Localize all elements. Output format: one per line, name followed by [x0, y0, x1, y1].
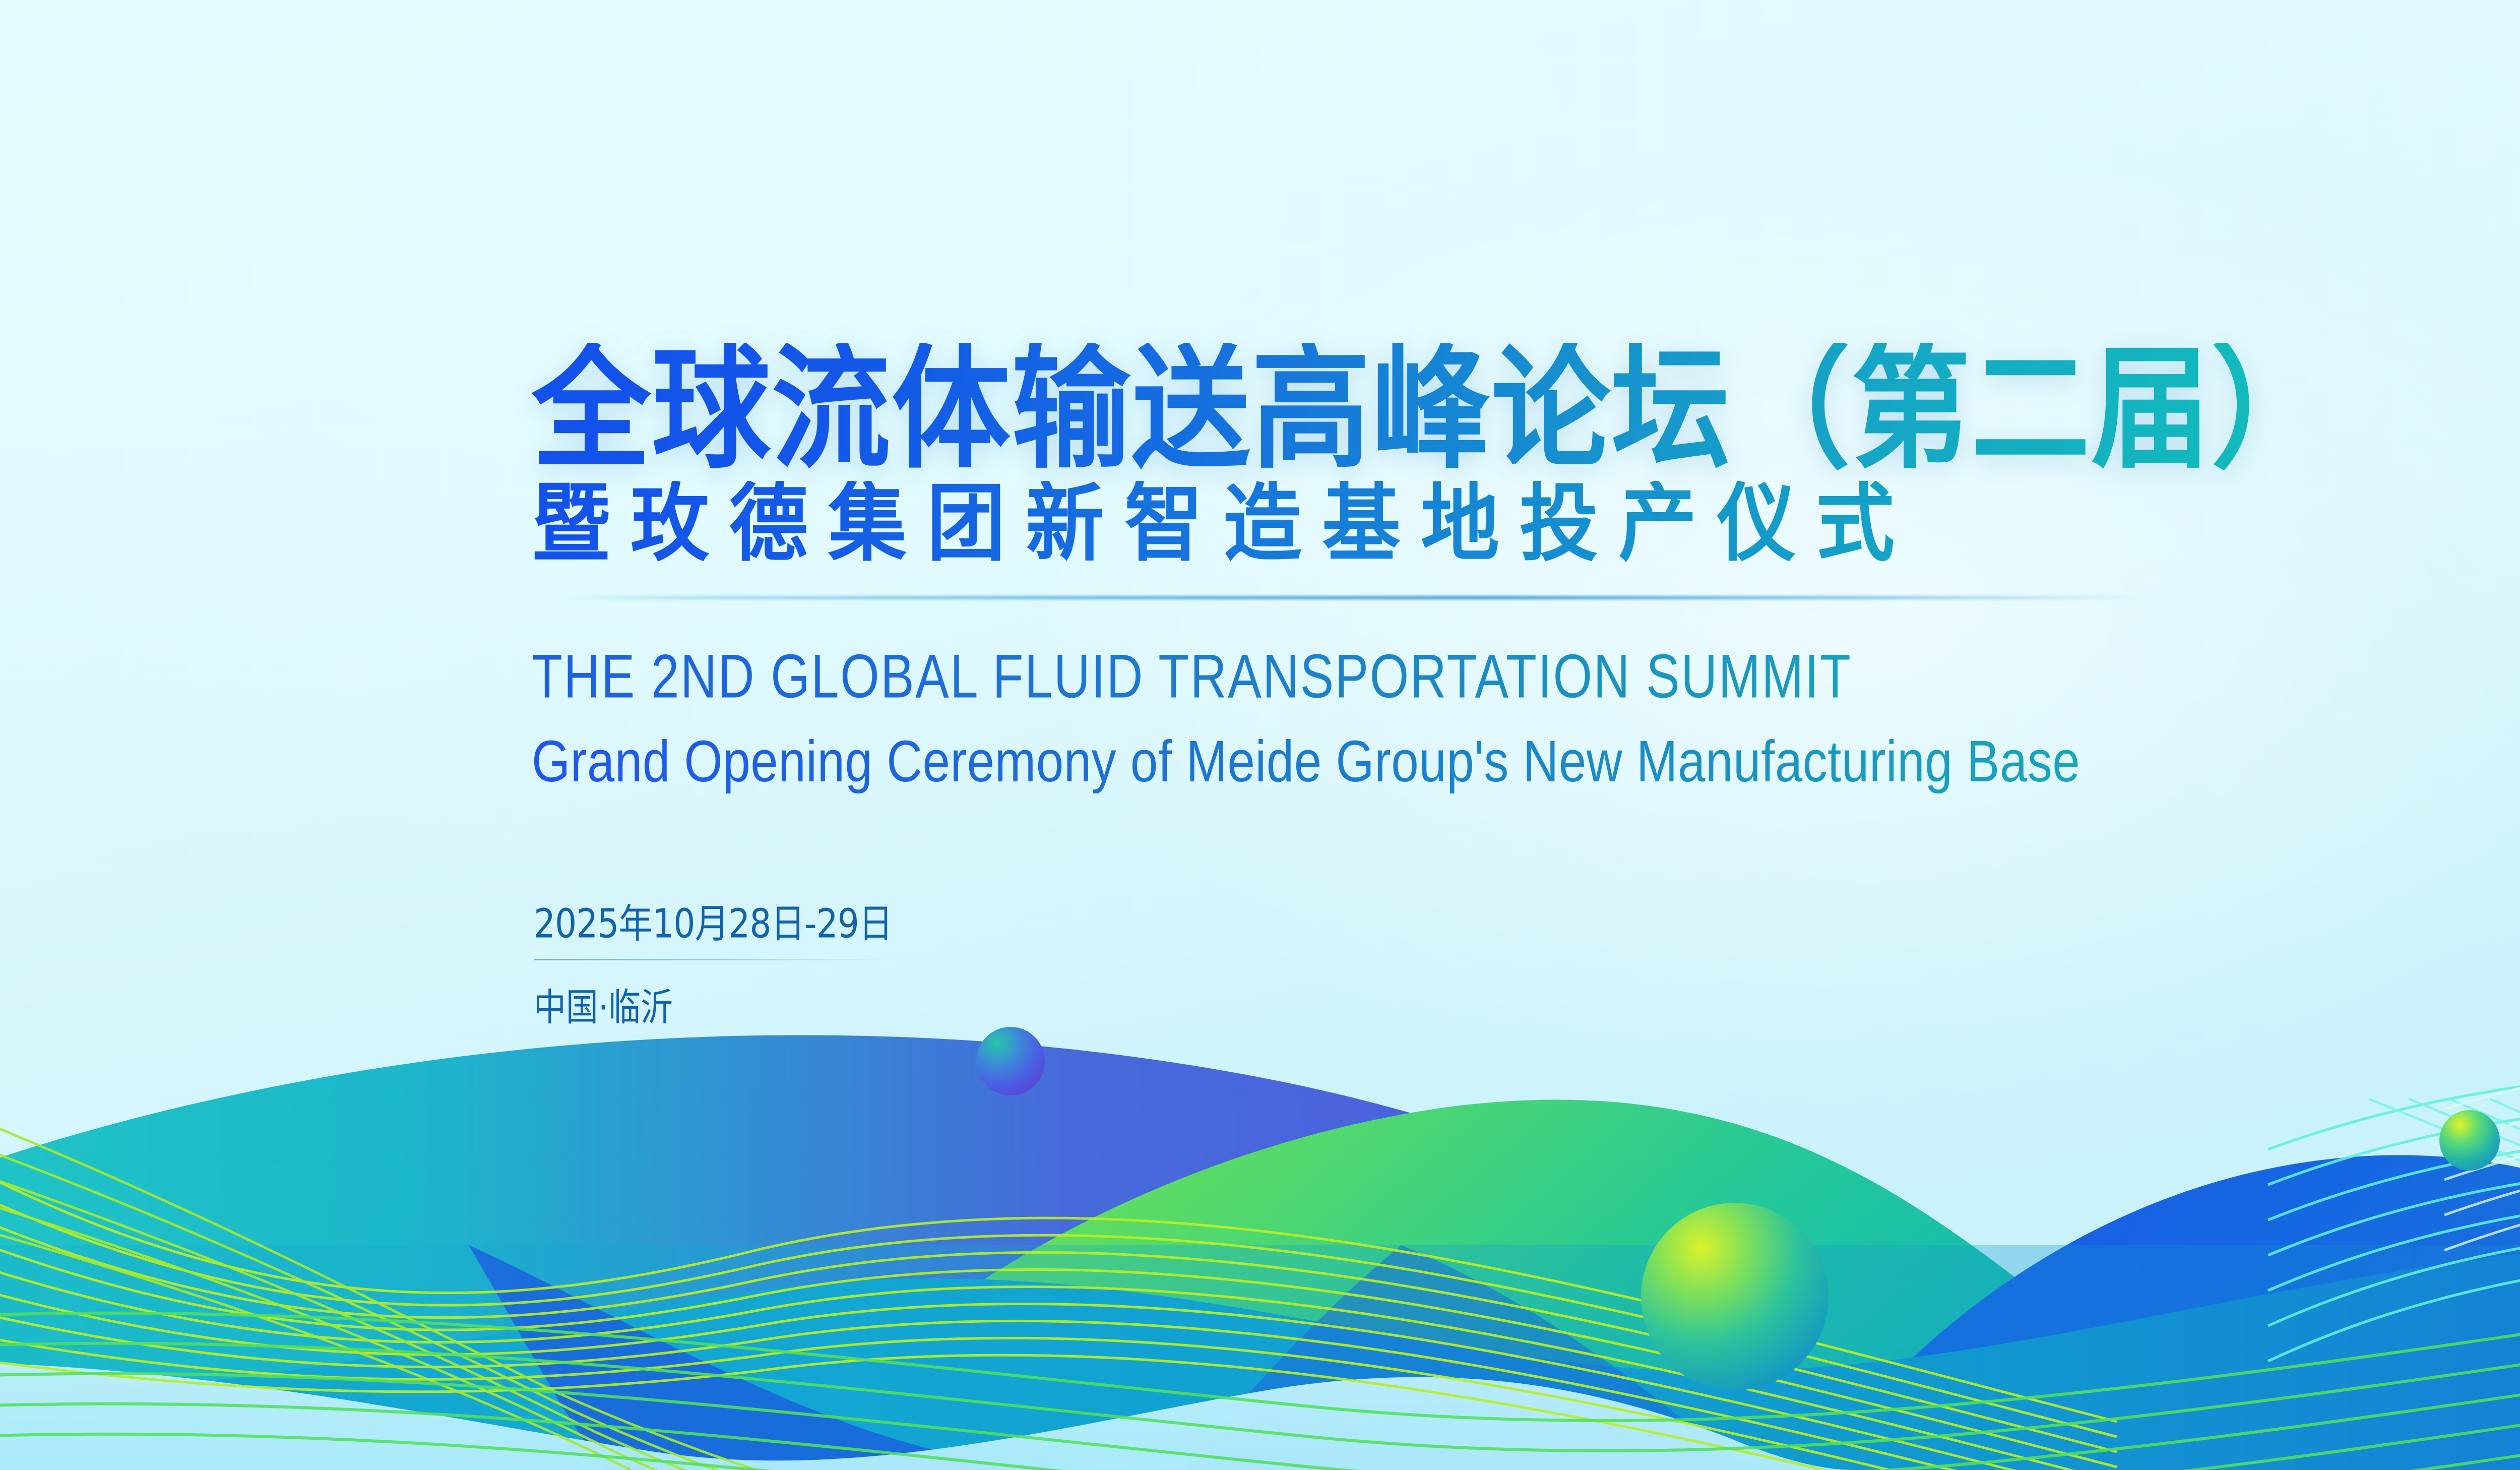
- page-subtitle-cn: 暨玫德集团新智造基地投产仪式: [532, 481, 2520, 566]
- title-divider: [562, 596, 2150, 599]
- poster-text-block: 全球流体输送高峰论坛（第二届） 暨玫德集团新智造基地投产仪式 THE 2ND G…: [532, 343, 2520, 1026]
- event-location: 中国·临沂: [534, 976, 2520, 1031]
- page-title-en: THE 2ND GLOBAL FLUID TRANSPORTATION SUMM…: [532, 643, 2520, 711]
- page-subtitle-en: Grand Opening Ceremony of Meide Group's …: [532, 729, 2520, 794]
- sphere-small-green-right: [2439, 1110, 2500, 1171]
- sphere-large-green-center: [1641, 1203, 1829, 1390]
- meta-divider: [534, 959, 887, 960]
- sphere-small-blue-left: [976, 1027, 1045, 1095]
- poster-canvas: 全球流体输送高峰论坛（第二届） 暨玫德集团新智造基地投产仪式 THE 2ND G…: [0, 0, 2520, 1470]
- page-title: 全球流体输送高峰论坛（第二届）: [532, 343, 2520, 476]
- event-date: 2025年10月28日-29日: [534, 891, 2520, 949]
- event-meta: 2025年10月28日-29日 中国·临沂: [534, 891, 2520, 1026]
